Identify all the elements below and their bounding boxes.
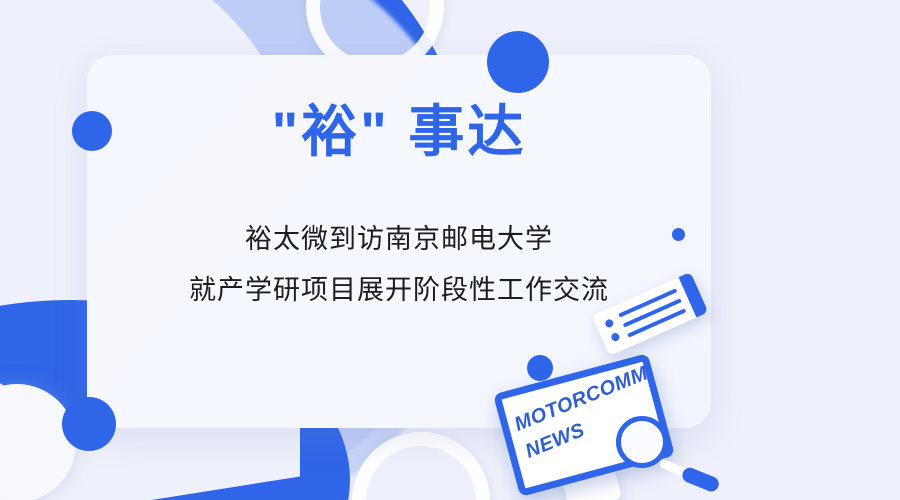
magnifier-lens <box>616 416 668 468</box>
list-bullet-2 <box>610 332 621 343</box>
list-bullet-1 <box>604 318 615 329</box>
decorative-dot-bottom-left <box>62 397 116 451</box>
subtitle-line-2: 就产学研项目展开阶段性工作交流 <box>87 268 711 307</box>
news-banner: "裕" 事达 裕太微到访南京邮电大学 就产学研项目展开阶段性工作交流 MOTOR… <box>0 0 900 500</box>
subtitle-line-1: 裕太微到访南京邮电大学 <box>87 217 711 256</box>
decorative-dot-top-center <box>487 31 549 93</box>
decorative-dot-near-badge <box>527 355 553 381</box>
page-title: "裕" 事达 <box>87 100 711 164</box>
